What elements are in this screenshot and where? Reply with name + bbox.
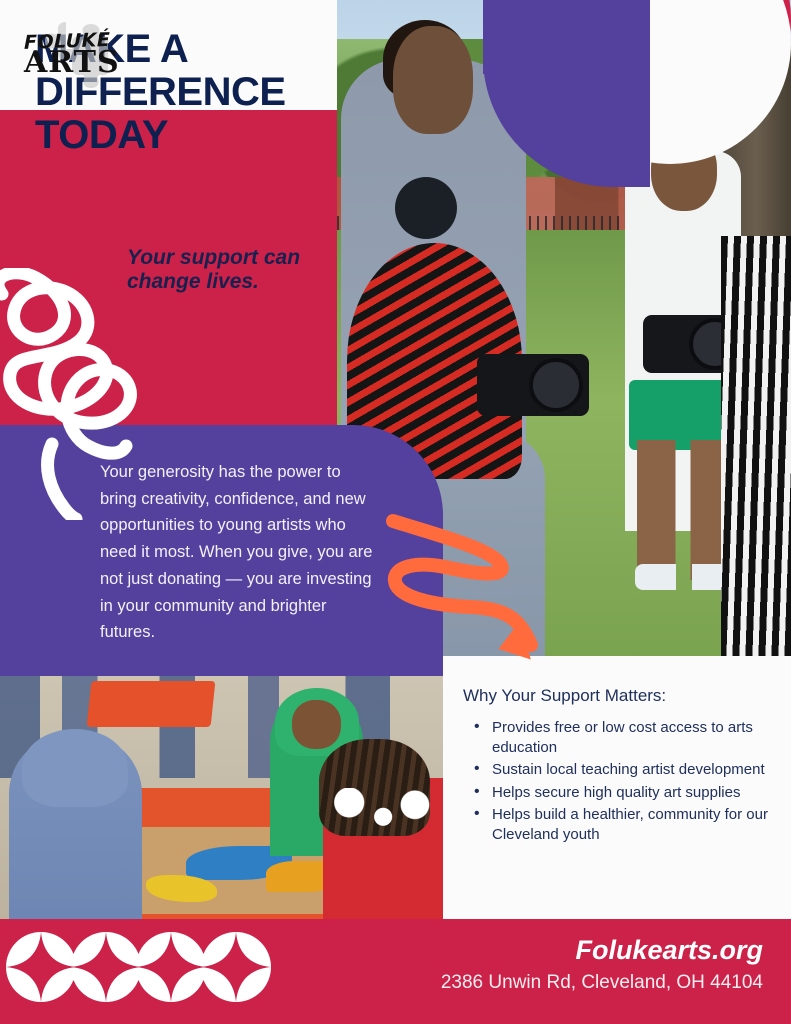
- poster-canvas: FOLUKÉ ARTS MAKE A DIFFERENCE TODAY Your…: [0, 0, 791, 1024]
- support-benefits-list: Provides free or low cost access to arts…: [470, 718, 770, 847]
- photo-girl-legs: [637, 440, 729, 580]
- footer-bar: Folukearts.org 2386 Unwin Rd, Cleveland,…: [0, 919, 791, 1024]
- child-hair-beads: [328, 788, 434, 837]
- logo-text: FOLUKÉ ARTS: [24, 32, 134, 78]
- orange-arrow-icon: [385, 505, 560, 675]
- photo-man-head: [393, 26, 473, 134]
- photo-shirt-graphic: [395, 177, 457, 239]
- child-green-face: [292, 700, 341, 749]
- photo-camera-left: [477, 354, 589, 416]
- logo-line-1: FOLUKÉ: [24, 30, 134, 52]
- classroom-back-table: [86, 681, 215, 727]
- hero-subheadline: Your support can change lives.: [127, 246, 342, 293]
- footer-website[interactable]: Folukearts.org: [575, 935, 763, 966]
- list-item: Helps secure high quality art supplies: [470, 783, 770, 803]
- child-blue-hood: [22, 729, 128, 807]
- list-item: Sustain local teaching artist developmen…: [470, 760, 770, 780]
- photo-striped-person: [721, 236, 791, 656]
- list-item: Provides free or low cost access to arts…: [470, 718, 770, 757]
- star-circles-decoration: [5, 931, 275, 1003]
- logo[interactable]: FOLUKÉ ARTS: [24, 18, 134, 98]
- photo-girl-shoes: [635, 564, 733, 590]
- footer-address: 2386 Unwin Rd, Cleveland, OH 44104: [441, 972, 763, 994]
- list-item: Helps build a healthier, community for o…: [470, 805, 770, 844]
- support-panel-title: Why Your Support Matters:: [463, 686, 773, 706]
- spiral-squiggle-decoration: [0, 268, 142, 520]
- classroom-photo: [0, 676, 443, 919]
